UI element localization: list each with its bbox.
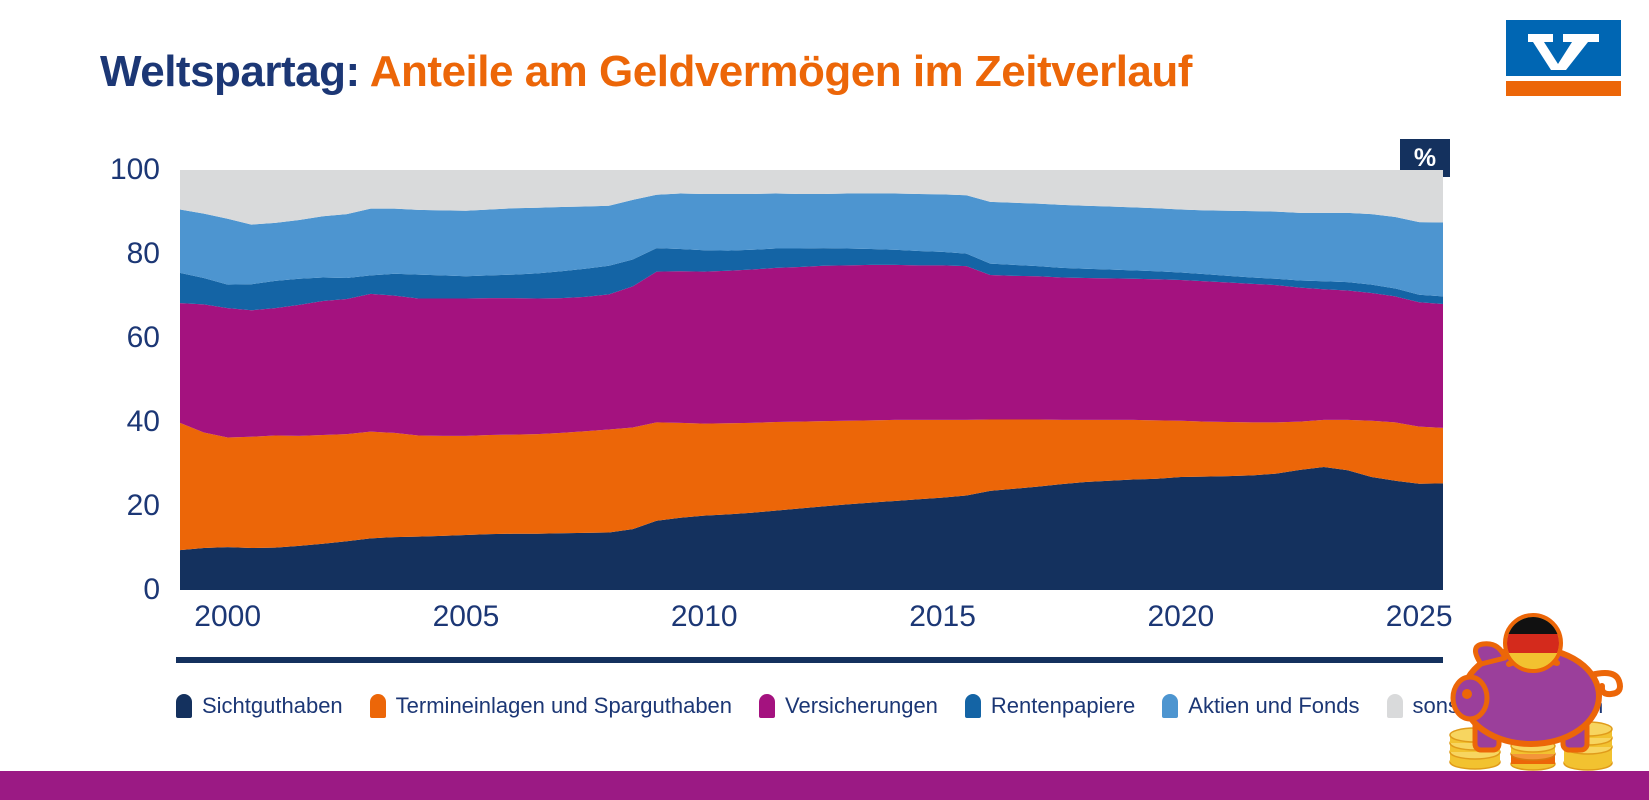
y-tick-label: 80: [80, 237, 160, 271]
legend-item-label: Aktien und Fonds: [1188, 693, 1359, 719]
x-tick-label: 2000: [194, 600, 261, 634]
piggy-bank-illustration: [1413, 602, 1649, 771]
logo-v-glyph: [1506, 20, 1621, 76]
chart-bottom-rule: [176, 657, 1443, 663]
legend-item-label: Termineinlagen und Sparguthaben: [396, 693, 732, 719]
footer-bar: [0, 771, 1649, 800]
y-axis: 020406080100: [80, 170, 160, 590]
page-title: Weltspartag: Anteile am Geldvermögen im …: [100, 47, 1192, 97]
x-axis: 200020052010201520202025: [180, 600, 1443, 640]
y-tick-label: 20: [80, 489, 160, 523]
german-flag-coin: [1505, 615, 1561, 672]
legend-swatch-icon: [370, 694, 386, 718]
legend-item-label: Rentenpapiere: [991, 693, 1135, 719]
unit-badge-label: %: [1414, 144, 1436, 173]
legend-swatch-icon: [176, 694, 192, 718]
y-tick-label: 0: [80, 573, 160, 607]
legend-item-label: Versicherungen: [785, 693, 938, 719]
chart-svg: [180, 170, 1443, 590]
y-tick-label: 60: [80, 321, 160, 355]
x-tick-label: 2010: [671, 600, 738, 634]
legend-item[interactable]: Rentenpapiere: [965, 693, 1135, 719]
legend-item[interactable]: Sichtguthaben: [176, 693, 343, 719]
legend-swatch-icon: [759, 694, 775, 718]
legend-swatch-icon: [1162, 694, 1178, 718]
legend-item[interactable]: Versicherungen: [759, 693, 938, 719]
slide-root: Weltspartag: Anteile am Geldvermögen im …: [0, 0, 1649, 800]
logo-orange-bar: [1506, 81, 1621, 96]
legend-item-label: Sichtguthaben: [202, 693, 343, 719]
x-tick-label: 2005: [433, 600, 500, 634]
page-title-main: Anteile am Geldvermögen im Zeitverlauf: [370, 47, 1192, 96]
x-tick-label: 2020: [1147, 600, 1214, 634]
stacked-area-chart: [180, 170, 1443, 590]
legend-item[interactable]: Aktien und Fonds: [1162, 693, 1359, 719]
legend-swatch-icon: [965, 694, 981, 718]
page-title-prefix: Weltspartag:: [100, 47, 370, 96]
volksbank-raiffeisenbank-logo: [1506, 20, 1621, 96]
legend-item[interactable]: Termineinlagen und Sparguthaben: [370, 693, 732, 719]
legend-swatch-icon: [1387, 694, 1403, 718]
x-tick-label: 2015: [909, 600, 976, 634]
y-tick-label: 100: [80, 153, 160, 187]
y-tick-label: 40: [80, 405, 160, 439]
